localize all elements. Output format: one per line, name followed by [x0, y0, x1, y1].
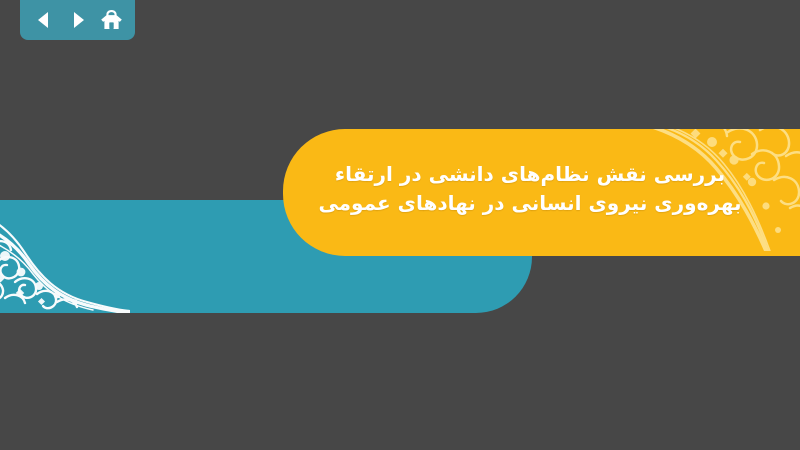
- home-button[interactable]: [98, 7, 124, 33]
- navigation-bar: [20, 0, 135, 40]
- orange-banner: [283, 129, 800, 256]
- teal-arabesque-ornament-icon: [0, 200, 130, 313]
- triangle-left-icon: [34, 10, 54, 30]
- slide-canvas: بررسی نقش نظام‌های دانشی در ارتقاء بهره‌…: [0, 0, 800, 450]
- home-icon: [100, 9, 123, 31]
- back-button[interactable]: [31, 7, 57, 33]
- forward-button[interactable]: [65, 7, 91, 33]
- orange-arabesque-ornament-icon: [600, 129, 800, 251]
- triangle-right-icon: [68, 10, 88, 30]
